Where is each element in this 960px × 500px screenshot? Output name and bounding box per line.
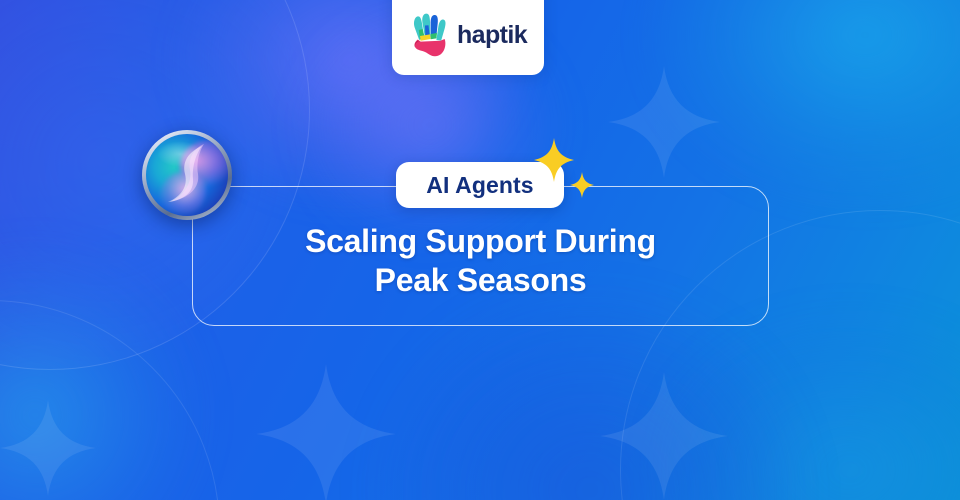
- haptik-marketing-banner: haptik AI Agents Scaling Support During: [0, 0, 960, 500]
- haptik-hand-logo-icon: [409, 13, 451, 57]
- haptik-wordmark: haptik: [457, 23, 527, 48]
- page-title: Scaling Support During Peak Seasons: [192, 222, 769, 300]
- ai-assistant-orb-icon: [146, 134, 228, 216]
- headline-line-2: Peak Seasons: [192, 261, 769, 300]
- background-star-icon: [256, 364, 396, 500]
- logo-row: haptik: [409, 13, 527, 57]
- ai-agents-badge-label: AI Agents: [426, 172, 533, 199]
- orb-gloss-highlight: [157, 141, 203, 167]
- haptik-logo-card: haptik: [392, 0, 544, 75]
- headline-line-1: Scaling Support During: [192, 222, 769, 261]
- ai-assistant-orb: [142, 130, 232, 220]
- ai-agents-badge[interactable]: AI Agents: [396, 162, 564, 208]
- orb-metallic-ring: [142, 130, 232, 220]
- cyan-glow-top-right: [650, 0, 960, 200]
- background-star-icon: [608, 66, 720, 178]
